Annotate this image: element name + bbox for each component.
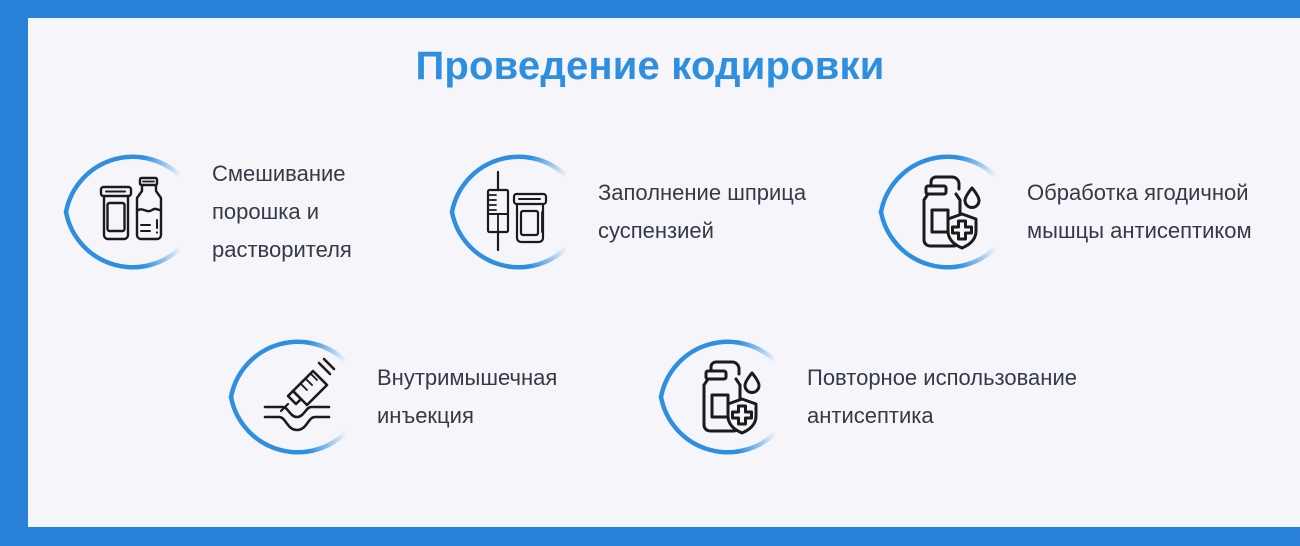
step-item-fill-syringe[interactable]: Заполнение шприца суспензией bbox=[444, 136, 858, 288]
antiseptic-dispenser-shield-icon bbox=[907, 170, 991, 254]
step-icon-circle bbox=[653, 321, 805, 473]
syringe-and-vial-icon bbox=[478, 170, 562, 254]
step-label: Повторное использование антисептика bbox=[807, 359, 1137, 435]
step-label: Внутримышечная инъекция bbox=[377, 359, 607, 435]
step-item-injection[interactable]: Внутримышечная инъекция bbox=[223, 321, 607, 473]
step-label: Заполнение шприца суспензией bbox=[598, 174, 858, 250]
step-item-antiseptic-first[interactable]: Обработка ягодичной мышцы антисептиком bbox=[873, 136, 1300, 288]
poster-panel: Проведение кодировки bbox=[28, 18, 1300, 527]
step-item-mixing[interactable]: Смешивание порошка и растворителя bbox=[58, 136, 412, 288]
step-icon-circle bbox=[444, 136, 596, 288]
intramuscular-injection-icon bbox=[257, 355, 341, 439]
powder-vial-and-solvent-bottle-icon bbox=[92, 170, 176, 254]
step-label: Смешивание порошка и растворителя bbox=[212, 155, 412, 269]
step-label: Обработка ягодичной мышцы антисептиком bbox=[1027, 174, 1300, 250]
page-title: Проведение кодировки bbox=[28, 44, 1272, 88]
step-icon-circle bbox=[58, 136, 210, 288]
step-icon-circle bbox=[873, 136, 1025, 288]
step-icon-circle bbox=[223, 321, 375, 473]
poster-frame: Проведение кодировки bbox=[0, 0, 1300, 546]
step-item-antiseptic-repeat[interactable]: Повторное использование антисептика bbox=[653, 321, 1137, 473]
antiseptic-dispenser-shield-icon bbox=[687, 355, 771, 439]
